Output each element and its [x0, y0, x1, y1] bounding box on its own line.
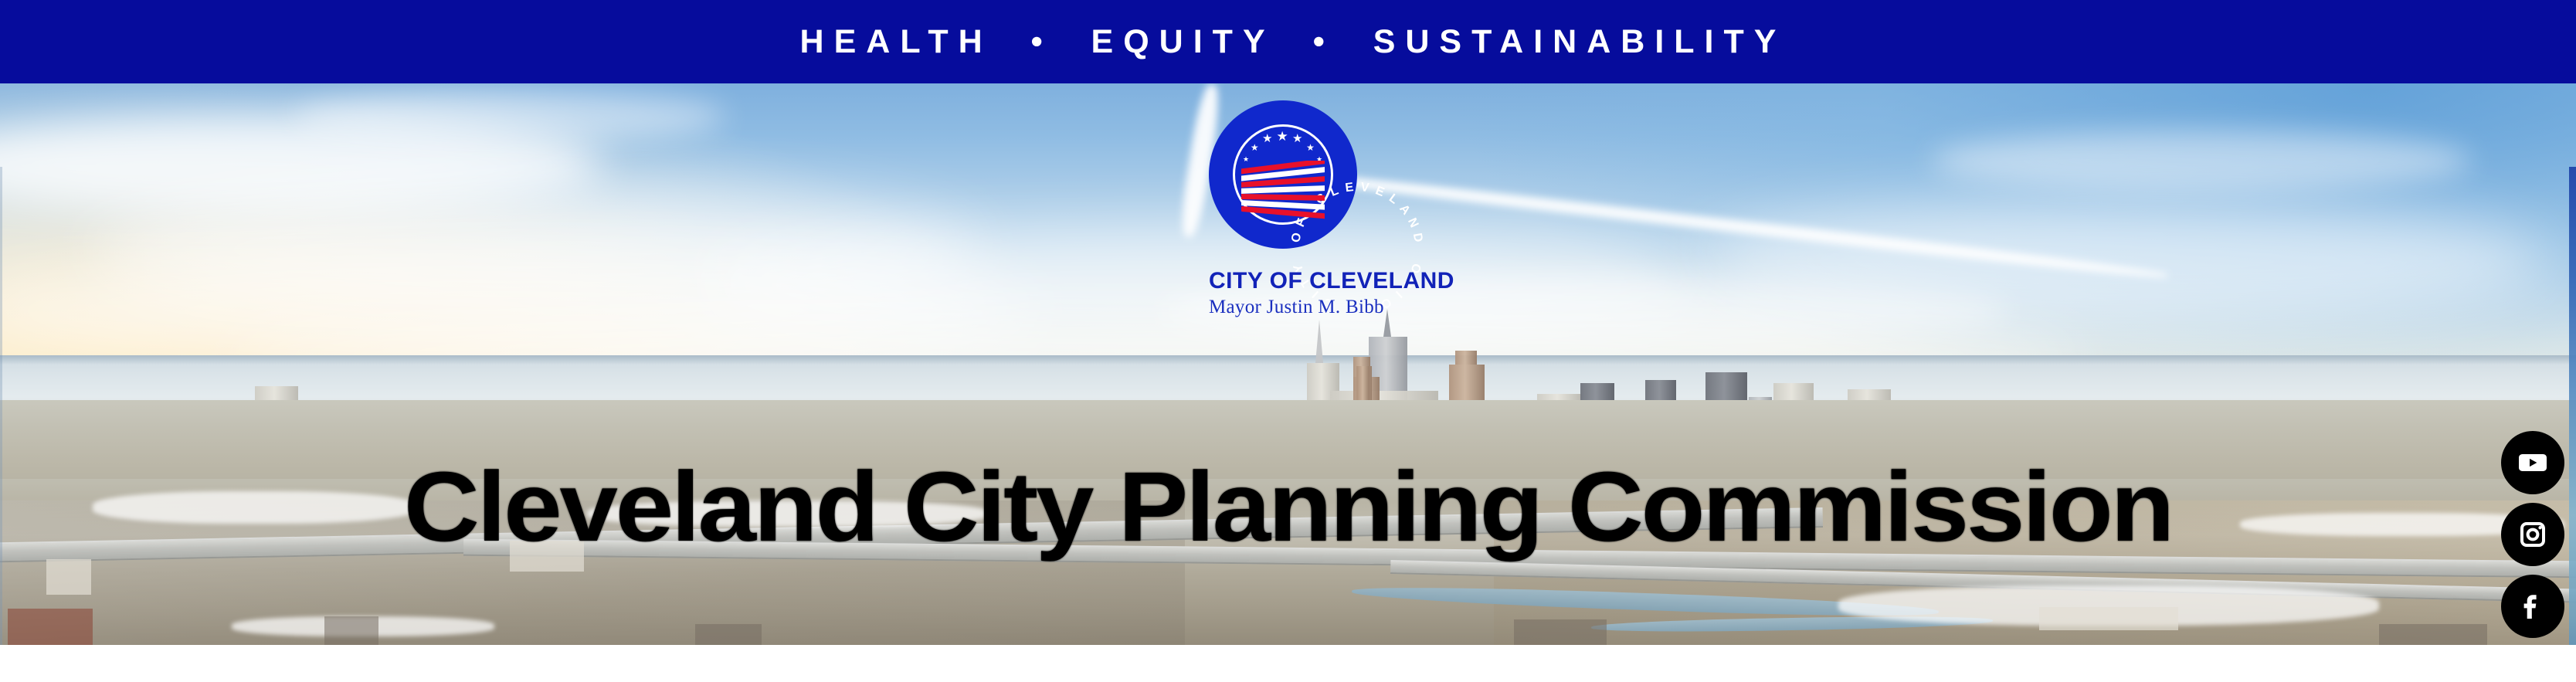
city-name: CITY OF CLEVELAND: [1209, 269, 1357, 293]
hero-photo-cleveland-skyline: CITYOFCLEVELANDOHIO ★★★★★★★ CITY OF CLEV…: [0, 83, 2576, 645]
identity-caption: CITY OF CLEVELAND Mayor Justin M. Bibb: [1209, 269, 1357, 319]
building: [695, 624, 762, 645]
mayor-name: Mayor Justin M. Bibb: [1209, 296, 1357, 319]
youtube-icon[interactable]: [2501, 431, 2564, 494]
building: [2379, 624, 2487, 645]
building: [2039, 607, 2178, 630]
cloud: [294, 90, 726, 144]
tagline-banner: HEALTH • EQUITY • SUSTAINABILITY: [0, 0, 2576, 83]
social-media-bar: [2501, 431, 2564, 645]
cloud: [1699, 199, 2549, 323]
building: [8, 609, 93, 645]
photo-right-edge: [2569, 167, 2576, 645]
city-of-cleveland-seal: CITYOFCLEVELANDOHIO ★★★★★★★: [1209, 100, 1357, 249]
cloud: [1931, 130, 2472, 192]
instagram-icon[interactable]: [2501, 503, 2564, 566]
tagline-text: HEALTH • EQUITY • SUSTAINABILITY: [790, 25, 1787, 59]
building: [46, 559, 91, 595]
seal-flag: [1241, 161, 1325, 219]
key-tower-spire: [1383, 309, 1391, 337]
building-cap: [1455, 351, 1477, 365]
building: [324, 616, 378, 645]
page-title: Cleveland City Planning Commission: [0, 458, 2576, 557]
facebook-icon[interactable]: [2501, 575, 2564, 638]
photo-left-edge: [0, 167, 2, 645]
header-hero-page: HEALTH • EQUITY • SUSTAINABILITY: [0, 0, 2576, 682]
terminal-tower-spire: [1315, 320, 1323, 363]
building: [1514, 619, 1607, 645]
